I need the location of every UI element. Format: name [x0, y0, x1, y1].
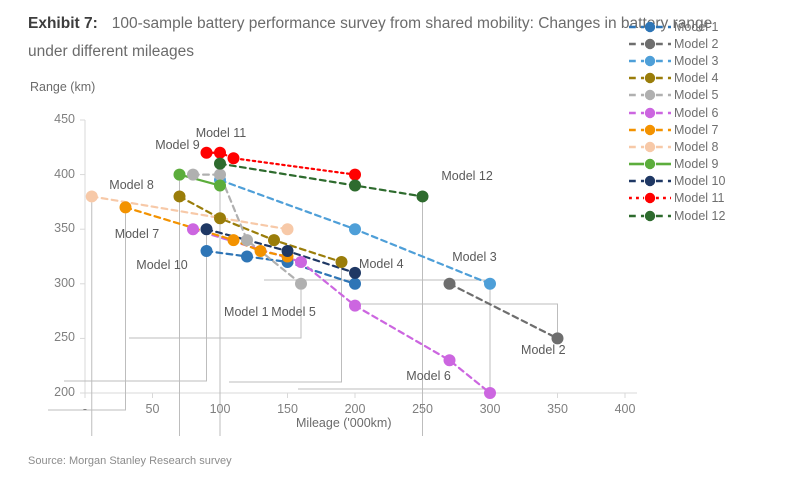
y-tick-label: 350 — [33, 221, 75, 235]
legend-swatch-icon — [628, 37, 672, 51]
y-tick-label: 250 — [33, 330, 75, 344]
series-annotation-model-4: Model 4 — [359, 257, 403, 271]
exhibit-title-text: 100-sample battery performance survey fr… — [28, 15, 712, 60]
series-annotation-model-2: Model 2 — [521, 343, 565, 357]
legend-item-model-2[interactable]: Model 2 — [628, 35, 788, 52]
legend-label: Model 4 — [672, 71, 718, 85]
series-annotation-model-11: Model 11 — [196, 126, 247, 140]
x-tick-label: 200 — [333, 402, 377, 416]
legend-item-model-11[interactable]: Model 11 — [628, 190, 788, 207]
series-annotation-model-9: Model 9 — [155, 138, 199, 152]
legend-item-model-1[interactable]: Model 1 — [628, 18, 788, 35]
legend-item-model-7[interactable]: Model 7 — [628, 121, 788, 138]
legend-label: Model 3 — [672, 54, 718, 68]
series-annotation-model-3: Model 3 — [452, 250, 496, 264]
x-tick-label: 350 — [536, 402, 580, 416]
legend-item-model-3[interactable]: Model 3 — [628, 52, 788, 69]
legend-swatch-icon — [628, 191, 672, 205]
source-note: Source: Morgan Stanley Research survey — [28, 455, 232, 467]
y-tick-label: 450 — [33, 112, 75, 126]
x-tick-label: 400 — [603, 402, 647, 416]
x-tick-label: 50 — [131, 402, 175, 416]
legend-label: Model 11 — [672, 191, 725, 205]
legend-swatch-icon — [628, 209, 672, 223]
y-tick-label: 200 — [33, 385, 75, 399]
exhibit-title: Exhibit 7:100-sample battery performance… — [28, 10, 728, 66]
series-annotation-model-10: Model 10 — [136, 258, 187, 272]
legend-swatch-icon — [628, 140, 672, 154]
series-annotation-model-7: Model 7 — [115, 227, 159, 241]
y-tick-label: 400 — [33, 167, 75, 181]
legend-item-model-6[interactable]: Model 6 — [628, 104, 788, 121]
legend-swatch-icon — [628, 54, 672, 68]
x-tick-label: 300 — [468, 402, 512, 416]
exhibit-label: Exhibit 7: — [28, 15, 98, 32]
legend-label: Model 2 — [672, 37, 718, 51]
series-annotation-model-1: Model 1 — [224, 305, 268, 319]
legend-item-model-5[interactable]: Model 5 — [628, 87, 788, 104]
legend-item-model-9[interactable]: Model 9 — [628, 156, 788, 173]
x-tick-label: - — [63, 402, 107, 416]
legend-swatch-icon — [628, 106, 672, 120]
legend-swatch-icon — [628, 71, 672, 85]
x-tick-label: 100 — [198, 402, 242, 416]
legend-label: Model 7 — [672, 123, 718, 137]
series-annotation-model-6: Model 6 — [406, 369, 450, 383]
series-annotation-model-5: Model 5 — [271, 305, 315, 319]
legend-label: Model 5 — [672, 88, 718, 102]
legend-item-model-12[interactable]: Model 12 — [628, 207, 788, 224]
legend-label: Model 10 — [672, 174, 725, 188]
legend-label: Model 12 — [672, 209, 725, 223]
legend-item-model-4[interactable]: Model 4 — [628, 70, 788, 87]
legend-swatch-icon — [628, 88, 672, 102]
legend-label: Model 8 — [672, 140, 718, 154]
series-annotation-model-12: Model 12 — [441, 169, 492, 183]
legend-label: Model 6 — [672, 106, 718, 120]
legend-swatch-icon — [628, 157, 672, 171]
legend-swatch-icon — [628, 174, 672, 188]
legend-label: Model 1 — [672, 20, 718, 34]
legend-swatch-icon — [628, 20, 672, 34]
x-tick-label: 150 — [266, 402, 310, 416]
legend-item-model-8[interactable]: Model 8 — [628, 138, 788, 155]
chart-legend: Model 1Model 2Model 3Model 4Model 5Model… — [628, 18, 788, 224]
legend-swatch-icon — [628, 123, 672, 137]
legend-label: Model 9 — [672, 157, 718, 171]
x-tick-label: 250 — [401, 402, 445, 416]
series-annotation-model-8: Model 8 — [109, 178, 153, 192]
y-tick-label: 300 — [33, 276, 75, 290]
legend-item-model-10[interactable]: Model 10 — [628, 173, 788, 190]
